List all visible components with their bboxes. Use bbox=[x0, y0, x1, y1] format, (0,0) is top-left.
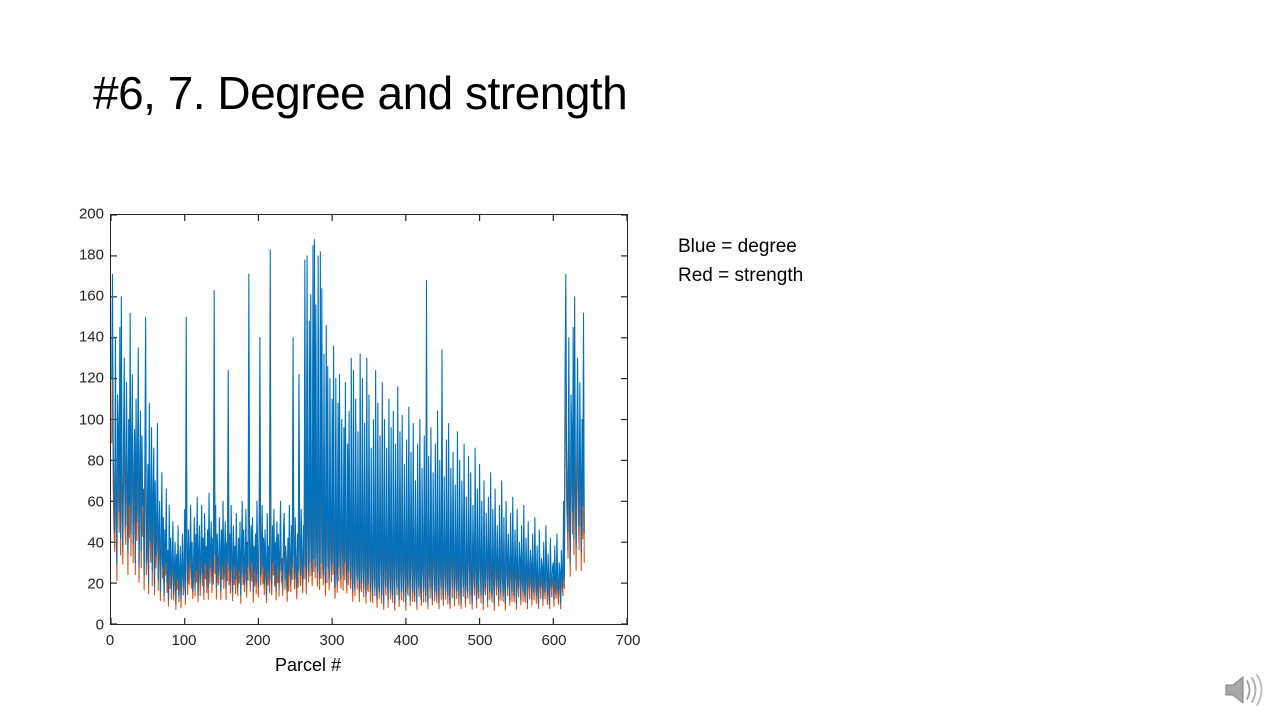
plot-svg bbox=[111, 215, 627, 624]
x-tick-700: 700 bbox=[615, 632, 640, 649]
x-tick-200: 200 bbox=[245, 632, 270, 649]
x-tick-600: 600 bbox=[541, 632, 566, 649]
x-tick-0: 0 bbox=[106, 632, 114, 649]
plot-area bbox=[110, 214, 628, 625]
x-axis-title: Parcel # bbox=[60, 655, 660, 676]
x-axis-title-text: Parcel # bbox=[275, 655, 341, 675]
legend-note-blue: Blue = degree bbox=[678, 232, 803, 261]
series-line-degree bbox=[112, 240, 585, 604]
page-title: #6, 7. Degree and strength bbox=[93, 70, 1193, 116]
x-tick-300: 300 bbox=[319, 632, 344, 649]
legend-note-red: Red = strength bbox=[678, 261, 803, 290]
legend-note: Blue = degree Red = strength bbox=[678, 232, 803, 290]
x-tick-400: 400 bbox=[393, 632, 418, 649]
chart-figure: 200 180 160 140 120 100 80 60 40 20 0 0 … bbox=[60, 200, 660, 690]
x-tick-100: 100 bbox=[171, 632, 196, 649]
x-tick-500: 500 bbox=[467, 632, 492, 649]
speaker-icon[interactable] bbox=[1220, 670, 1264, 710]
slide-canvas: #6, 7. Degree and strength 200 180 160 1… bbox=[0, 0, 1280, 720]
